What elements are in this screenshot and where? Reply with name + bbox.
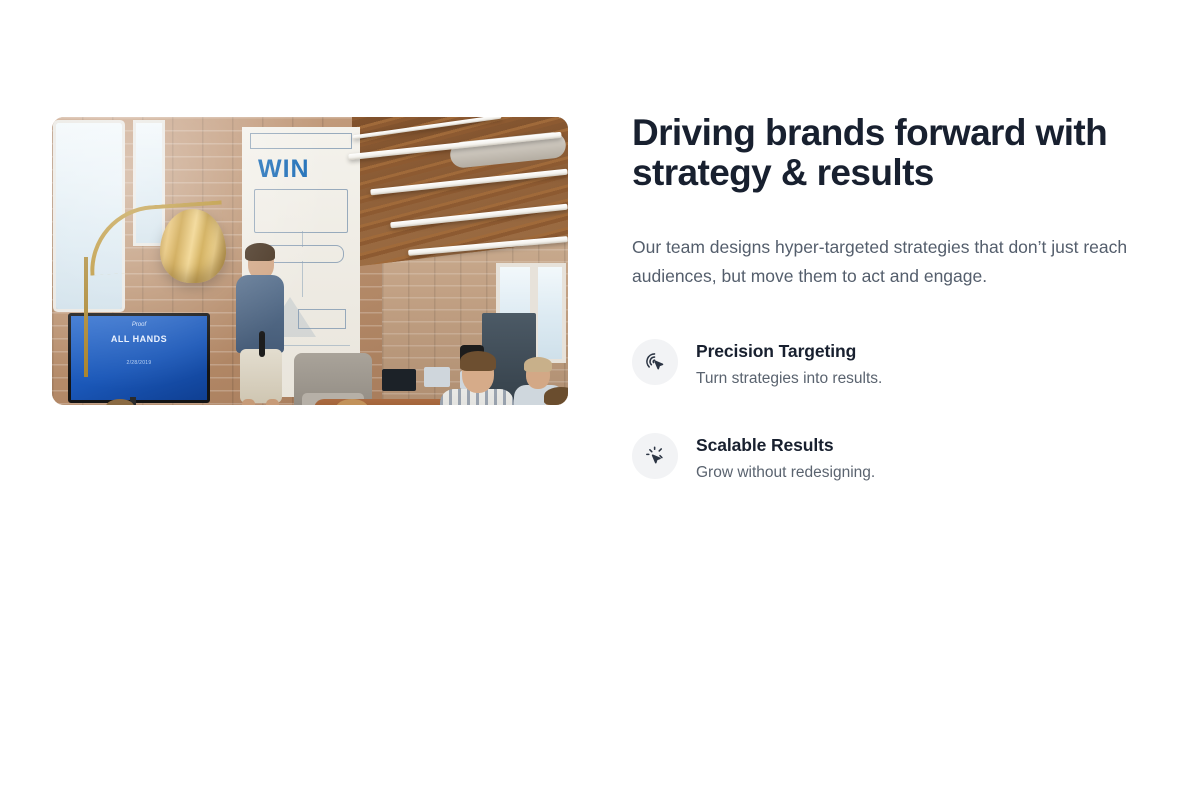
presenter-leg bbox=[242, 399, 255, 405]
cursor-sparkle-icon bbox=[632, 433, 678, 479]
cursor-click-icon bbox=[632, 339, 678, 385]
microphone bbox=[259, 331, 265, 357]
attendee-hair bbox=[544, 387, 568, 405]
background-monitor bbox=[424, 367, 450, 387]
section-description: Our team designs hyper-targeted strategi… bbox=[632, 233, 1148, 291]
mural-line bbox=[302, 231, 303, 247]
mural-win-text: WIN bbox=[258, 155, 310, 184]
presenter-shorts bbox=[240, 349, 282, 403]
page-title: Driving brands forward with strategy & r… bbox=[632, 113, 1112, 193]
feature-title: Precision Targeting bbox=[696, 340, 882, 362]
attendee-hair bbox=[524, 357, 552, 372]
media-column: WIN bbox=[52, 117, 568, 405]
background-monitor bbox=[382, 369, 416, 391]
window-pane bbox=[538, 267, 562, 359]
mural-sketch bbox=[250, 133, 352, 149]
feature-item-scalable-results: Scalable Results Grow without redesignin… bbox=[632, 431, 1152, 483]
window-pane bbox=[56, 123, 122, 309]
mural-sketch bbox=[298, 309, 346, 329]
pendant-lamp-stem bbox=[84, 257, 88, 377]
feature-item-precision-targeting: Precision Targeting Turn strategies into… bbox=[632, 337, 1152, 389]
mural-sketch bbox=[254, 189, 348, 233]
office-meeting-photo: WIN bbox=[52, 117, 568, 405]
feature-description: Grow without redesigning. bbox=[696, 463, 875, 483]
presenter-hair bbox=[245, 243, 275, 261]
presentation-screen: Proof ALL HANDS 2/28/2019 bbox=[68, 313, 210, 403]
feature-text: Scalable Results Grow without redesignin… bbox=[696, 431, 875, 483]
feature-section: WIN bbox=[0, 0, 1200, 800]
screen-kicker: Proof bbox=[71, 322, 207, 328]
armchair bbox=[294, 353, 372, 405]
attendee-hair bbox=[460, 351, 496, 371]
mural-line bbox=[302, 261, 303, 297]
feature-list: Precision Targeting Turn strategies into… bbox=[632, 337, 1152, 483]
photo-scene: WIN bbox=[52, 117, 568, 405]
feature-title: Scalable Results bbox=[696, 434, 875, 456]
feature-description: Turn strategies into results. bbox=[696, 369, 882, 389]
screen-heading: ALL HANDS bbox=[71, 334, 207, 345]
screen-subheading: 2/28/2019 bbox=[71, 360, 207, 366]
presenter-leg bbox=[266, 399, 279, 405]
content-column: Driving brands forward with strategy & r… bbox=[632, 113, 1152, 483]
feature-text: Precision Targeting Turn strategies into… bbox=[696, 337, 882, 389]
